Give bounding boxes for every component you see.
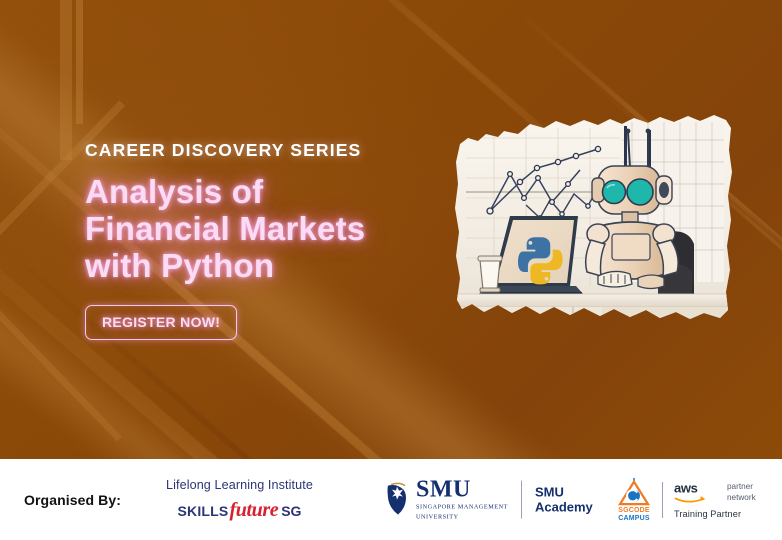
aws-tier-text: Training Partner [674,510,756,519]
hero-section: CAREER DISCOVERY SERIES Analysis of Fina… [0,0,782,459]
aws-top-row: aws partner network [674,480,756,504]
smu-subtitle-line-1: SINGAPORE MANAGEMENT [416,503,508,511]
footer-logo-bar: Organised By: Lifelong Learning Institut… [0,459,782,540]
partner-logos: SGCODE CAMPUS aws partner network [617,478,756,522]
skillsfuture-skills-text: SKILLS [177,504,228,518]
smu-subtitle-line-2: UNIVERSITY [416,514,508,522]
robot-illustration [452,110,736,342]
vertical-bar-decoration [60,0,72,160]
aws-partner-text: partner [727,482,756,493]
title-line-3: with Python [85,248,465,285]
smu-academy-text: SMU Academy [535,484,593,515]
skillsfuture-sg-logo: SKILLSfutureSG [166,500,313,520]
skillsfuture-sg-text: SG [281,504,301,518]
page-title: Analysis of Financial Markets with Pytho… [85,174,465,285]
corner-frame-decoration [76,0,546,124]
smu-wordmark-block: SMU SINGAPORE MANAGEMENT UNIVERSITY [416,477,508,522]
lifelong-learning-institute-logo: Lifelong Learning Institute SKILLSfuture… [166,479,313,521]
smu-academy-line-1: SMU [535,484,593,499]
sg-code-campus-logo: SGCODE CAMPUS [617,478,651,522]
aws-network-text: network [727,493,756,504]
hero-copy: CAREER DISCOVERY SERIES Analysis of Fina… [85,140,465,340]
aws-partner-network-text: partner network [727,480,756,504]
smu-wordmark: SMU [416,477,508,501]
series-eyebrow: CAREER DISCOVERY SERIES [85,140,465,161]
smu-divider [521,481,522,519]
partner-divider [662,482,663,518]
aws-partner-network-logo: aws partner network Training Partner [674,480,756,519]
smu-academy-line-2: Academy [535,500,593,515]
sg-code-campus-text-top: SGCODE [617,507,651,514]
svg-text:aws: aws [674,480,698,495]
sg-code-campus-text-bottom: CAMPUS [617,515,651,522]
smu-academy-logo: SMU SINGAPORE MANAGEMENT UNIVERSITY SMU … [383,477,593,522]
aws-wordmark-icon: aws [674,480,720,503]
event-banner: CAREER DISCOVERY SERIES Analysis of Fina… [0,0,782,540]
skillsfuture-future-text: future [229,500,278,520]
smu-crest-icon [383,483,411,517]
title-line-2: Financial Markets [85,211,465,248]
lli-wordmark: Lifelong Learning Institute [166,479,313,492]
sg-code-campus-icon [617,478,651,506]
title-line-1: Analysis of [85,174,465,211]
organised-by-label: Organised By: [24,492,121,508]
register-now-button[interactable]: REGISTER NOW! [85,305,237,340]
